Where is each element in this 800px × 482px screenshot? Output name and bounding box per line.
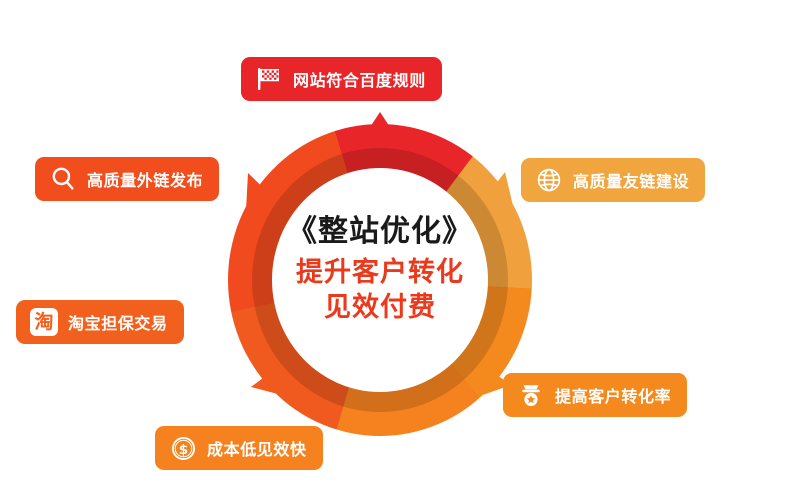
label-improve-conversion-rate[interactable]: 提高客户转化率 (503, 373, 687, 417)
globe-icon (534, 165, 564, 195)
taobao-icon: 淘 (29, 307, 59, 337)
label-quality-outbound-links[interactable]: 高质量外链发布 (35, 157, 219, 201)
search-icon (48, 164, 78, 194)
ring-inner-disc (273, 169, 487, 391)
label-quality-friendly-links[interactable]: 高质量友链建设 (521, 158, 705, 202)
label-text: 淘宝担保交易 (68, 310, 168, 334)
label-text: 高质量外链发布 (87, 167, 203, 191)
medal-star-icon (516, 380, 546, 410)
process-ring (215, 110, 545, 450)
infographic-canvas: 《整站优化》 提升客户转化 见效付费 网站符合百度规 (0, 0, 800, 482)
label-text: 网站符合百度规则 (293, 67, 426, 91)
label-website-baidu-rules[interactable]: 网站符合百度规则 (241, 57, 442, 101)
svg-text:$: $ (178, 442, 187, 458)
label-low-cost-fast-results[interactable]: $ 成本低见效快 (155, 426, 323, 470)
label-text: 高质量友链建设 (573, 168, 689, 192)
checkered-flag-icon (254, 64, 284, 94)
label-text: 提高客户转化率 (555, 383, 671, 407)
label-text: 成本低见效快 (207, 436, 307, 460)
dollar-circle-icon: $ (168, 433, 198, 463)
label-taobao-guaranteed-trade[interactable]: 淘 淘宝担保交易 (16, 300, 184, 344)
taobao-glyph: 淘 (34, 313, 53, 332)
